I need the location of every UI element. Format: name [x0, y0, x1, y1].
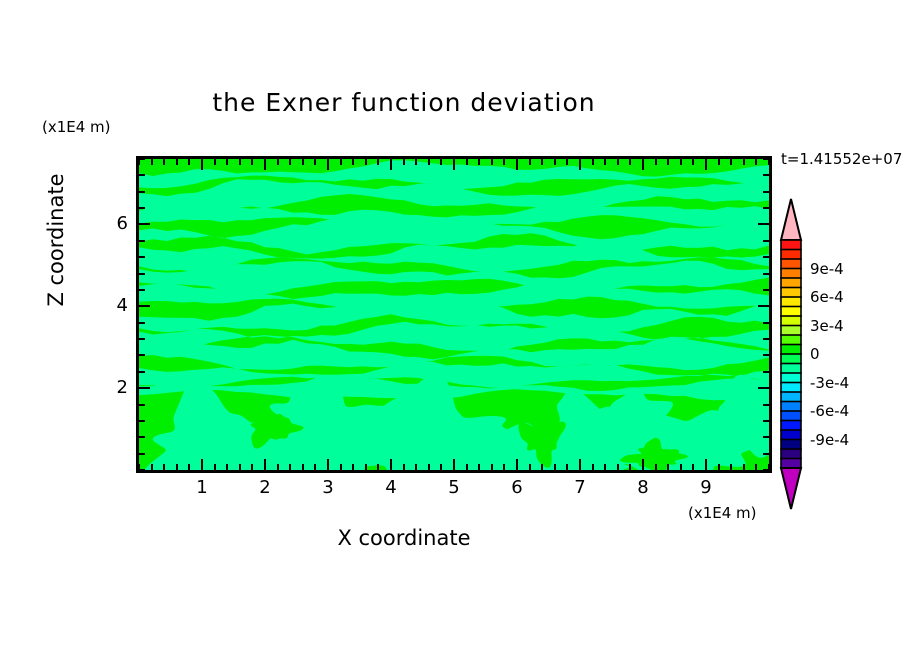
y-tick-minor: [139, 436, 145, 438]
x-axis-title-text: X coordinate: [337, 526, 470, 550]
x-tick-top: [667, 159, 669, 165]
x-tick-major: [642, 459, 644, 470]
y-tick-major: [139, 387, 150, 389]
y-tick-right: [763, 453, 769, 455]
y-tick-right: [763, 158, 769, 160]
y-tick-minor: [139, 289, 145, 291]
x-tick-top: [440, 159, 442, 165]
y-axis-unit-label: (x1E4 m): [42, 118, 111, 136]
y-tick-major: [139, 305, 150, 307]
y-tick-minor: [139, 256, 145, 258]
y-tick-label: 2: [88, 377, 128, 398]
y-tick-right: [763, 338, 769, 340]
x-tick-minor: [176, 464, 178, 470]
x-tick-top: [214, 159, 216, 165]
x-tick-top: [604, 159, 606, 165]
x-tick-top: [415, 159, 417, 165]
x-tick-label: 6: [497, 477, 537, 498]
x-tick-top: [516, 159, 518, 170]
x-tick-minor: [692, 464, 694, 470]
x-tick-top: [176, 159, 178, 165]
y-tick-label: 6: [88, 213, 128, 234]
x-tick-top: [592, 159, 594, 165]
y-tick-minor: [139, 453, 145, 455]
x-tick-top: [365, 159, 367, 165]
x-tick-label: 1: [182, 477, 222, 498]
x-tick-top: [289, 159, 291, 165]
y-tick-label: 4: [88, 295, 128, 316]
x-tick-major: [327, 459, 329, 470]
x-tick-minor: [566, 464, 568, 470]
x-tick-minor: [151, 464, 153, 470]
y-tick-right: [763, 240, 769, 242]
x-tick-minor: [415, 464, 417, 470]
x-tick-minor: [592, 464, 594, 470]
y-tick-right: [758, 305, 769, 307]
x-tick-minor: [667, 464, 669, 470]
x-tick-minor: [604, 464, 606, 470]
x-tick-minor: [655, 464, 657, 470]
y-tick-minor: [139, 354, 145, 356]
x-tick-minor: [314, 464, 316, 470]
x-tick-top: [541, 159, 543, 165]
x-tick-top: [352, 159, 354, 165]
y-tick-right: [763, 354, 769, 356]
chart-title-text: the Exner function deviation: [212, 88, 595, 117]
timestamp-annotation: t=1.41552e+07: [781, 150, 902, 168]
x-tick-minor: [629, 464, 631, 470]
colorbar-label: 9e-4: [810, 260, 844, 278]
figure-canvas: the Exner function deviation (x1E4 m) Z …: [0, 0, 904, 654]
x-tick-label: 9: [686, 477, 726, 498]
x-tick-minor: [352, 464, 354, 470]
x-tick-top: [314, 159, 316, 165]
x-tick-top: [718, 159, 720, 165]
x-tick-top: [655, 159, 657, 165]
x-tick-top: [692, 159, 694, 165]
x-tick-minor: [277, 464, 279, 470]
x-tick-minor: [730, 464, 732, 470]
x-tick-major: [390, 459, 392, 470]
x-tick-minor: [718, 464, 720, 470]
y-tick-minor: [139, 158, 145, 160]
contour-plot-area: [136, 156, 772, 473]
y-tick-right: [763, 404, 769, 406]
y-tick-minor: [139, 174, 145, 176]
x-tick-top: [554, 159, 556, 165]
x-tick-top: [428, 159, 430, 165]
y-tick-minor: [139, 322, 145, 324]
x-tick-top: [453, 159, 455, 170]
x-tick-major: [705, 459, 707, 470]
x-tick-minor: [680, 464, 682, 470]
x-tick-top: [529, 159, 531, 165]
y-tick-right: [763, 174, 769, 176]
page-title: the Exner function deviation: [0, 88, 904, 117]
y-tick-right: [763, 420, 769, 422]
x-tick-minor: [251, 464, 253, 470]
x-tick-top: [705, 159, 707, 170]
y-tick-right: [763, 256, 769, 258]
y-tick-right: [758, 387, 769, 389]
y-tick-right: [763, 273, 769, 275]
x-tick-minor: [163, 464, 165, 470]
x-tick-top: [302, 159, 304, 165]
x-tick-top: [403, 159, 405, 165]
x-tick-top: [617, 159, 619, 165]
x-tick-top: [390, 159, 392, 170]
x-tick-minor: [491, 464, 493, 470]
x-tick-label: 2: [245, 477, 285, 498]
x-tick-minor: [554, 464, 556, 470]
colorbar-gradient: [779, 198, 803, 510]
x-tick-minor: [466, 464, 468, 470]
x-tick-minor: [440, 464, 442, 470]
x-tick-top: [277, 159, 279, 165]
x-tick-minor: [239, 464, 241, 470]
x-tick-minor: [365, 464, 367, 470]
y-tick-minor: [139, 240, 145, 242]
x-tick-minor: [478, 464, 480, 470]
x-tick-top: [226, 159, 228, 165]
y-tick-right: [763, 436, 769, 438]
y-tick-right: [763, 289, 769, 291]
y-tick-minor: [139, 207, 145, 209]
x-tick-top: [566, 159, 568, 165]
x-tick-top: [251, 159, 253, 165]
colorbar-label: 0: [810, 345, 820, 363]
y-tick-right: [763, 322, 769, 324]
y-tick-minor: [139, 420, 145, 422]
x-tick-label: 3: [308, 477, 348, 498]
y-tick-minor: [139, 404, 145, 406]
x-tick-minor: [743, 464, 745, 470]
x-tick-top: [755, 159, 757, 165]
x-tick-minor: [403, 464, 405, 470]
x-tick-top: [201, 159, 203, 170]
x-tick-minor: [302, 464, 304, 470]
x-tick-label: 5: [434, 477, 474, 498]
x-tick-top: [264, 159, 266, 170]
x-tick-major: [264, 459, 266, 470]
x-tick-top: [327, 159, 329, 170]
x-tick-top: [340, 159, 342, 165]
y-tick-minor: [139, 469, 145, 471]
y-tick-right: [763, 191, 769, 193]
y-tick-right: [763, 469, 769, 471]
y-tick-minor: [139, 273, 145, 275]
colorbar-label: 3e-4: [810, 317, 844, 335]
x-tick-major: [516, 459, 518, 470]
x-tick-top: [579, 159, 581, 170]
x-axis-title: X coordinate: [0, 526, 904, 550]
y-axis-title: Z coordinate: [44, 160, 68, 320]
x-tick-minor: [214, 464, 216, 470]
x-tick-major: [453, 459, 455, 470]
x-tick-minor: [340, 464, 342, 470]
y-tick-right: [763, 371, 769, 373]
x-tick-top: [151, 159, 153, 165]
x-tick-top: [478, 159, 480, 165]
x-tick-minor: [377, 464, 379, 470]
x-tick-label: 4: [371, 477, 411, 498]
x-tick-minor: [529, 464, 531, 470]
x-tick-top: [743, 159, 745, 165]
x-tick-minor: [755, 464, 757, 470]
colorbar-label: -3e-4: [810, 374, 849, 392]
y-tick-minor: [139, 191, 145, 193]
colorbar: [779, 198, 803, 510]
x-tick-top: [503, 159, 505, 165]
x-axis-unit-label: (x1E4 m): [688, 504, 757, 522]
contour-field: [139, 159, 769, 470]
x-tick-label: 8: [623, 477, 663, 498]
x-tick-minor: [428, 464, 430, 470]
y-tick-major: [139, 223, 150, 225]
x-tick-top: [680, 159, 682, 165]
colorbar-label: 6e-4: [810, 288, 844, 306]
x-tick-top: [642, 159, 644, 170]
y-tick-minor: [139, 371, 145, 373]
x-tick-major: [579, 459, 581, 470]
x-tick-label: 7: [560, 477, 600, 498]
colorbar-label: -6e-4: [810, 402, 849, 420]
x-tick-top: [377, 159, 379, 165]
x-tick-minor: [503, 464, 505, 470]
x-tick-top: [629, 159, 631, 165]
x-tick-minor: [541, 464, 543, 470]
x-tick-top: [491, 159, 493, 165]
y-tick-minor: [139, 338, 145, 340]
x-tick-minor: [289, 464, 291, 470]
colorbar-label: -9e-4: [810, 431, 849, 449]
x-tick-top: [188, 159, 190, 165]
x-tick-top: [466, 159, 468, 165]
x-tick-major: [201, 459, 203, 470]
y-tick-right: [763, 207, 769, 209]
y-tick-right: [758, 223, 769, 225]
x-tick-minor: [226, 464, 228, 470]
x-tick-top: [239, 159, 241, 165]
x-tick-top: [730, 159, 732, 165]
x-tick-minor: [617, 464, 619, 470]
x-tick-minor: [188, 464, 190, 470]
x-tick-top: [163, 159, 165, 165]
